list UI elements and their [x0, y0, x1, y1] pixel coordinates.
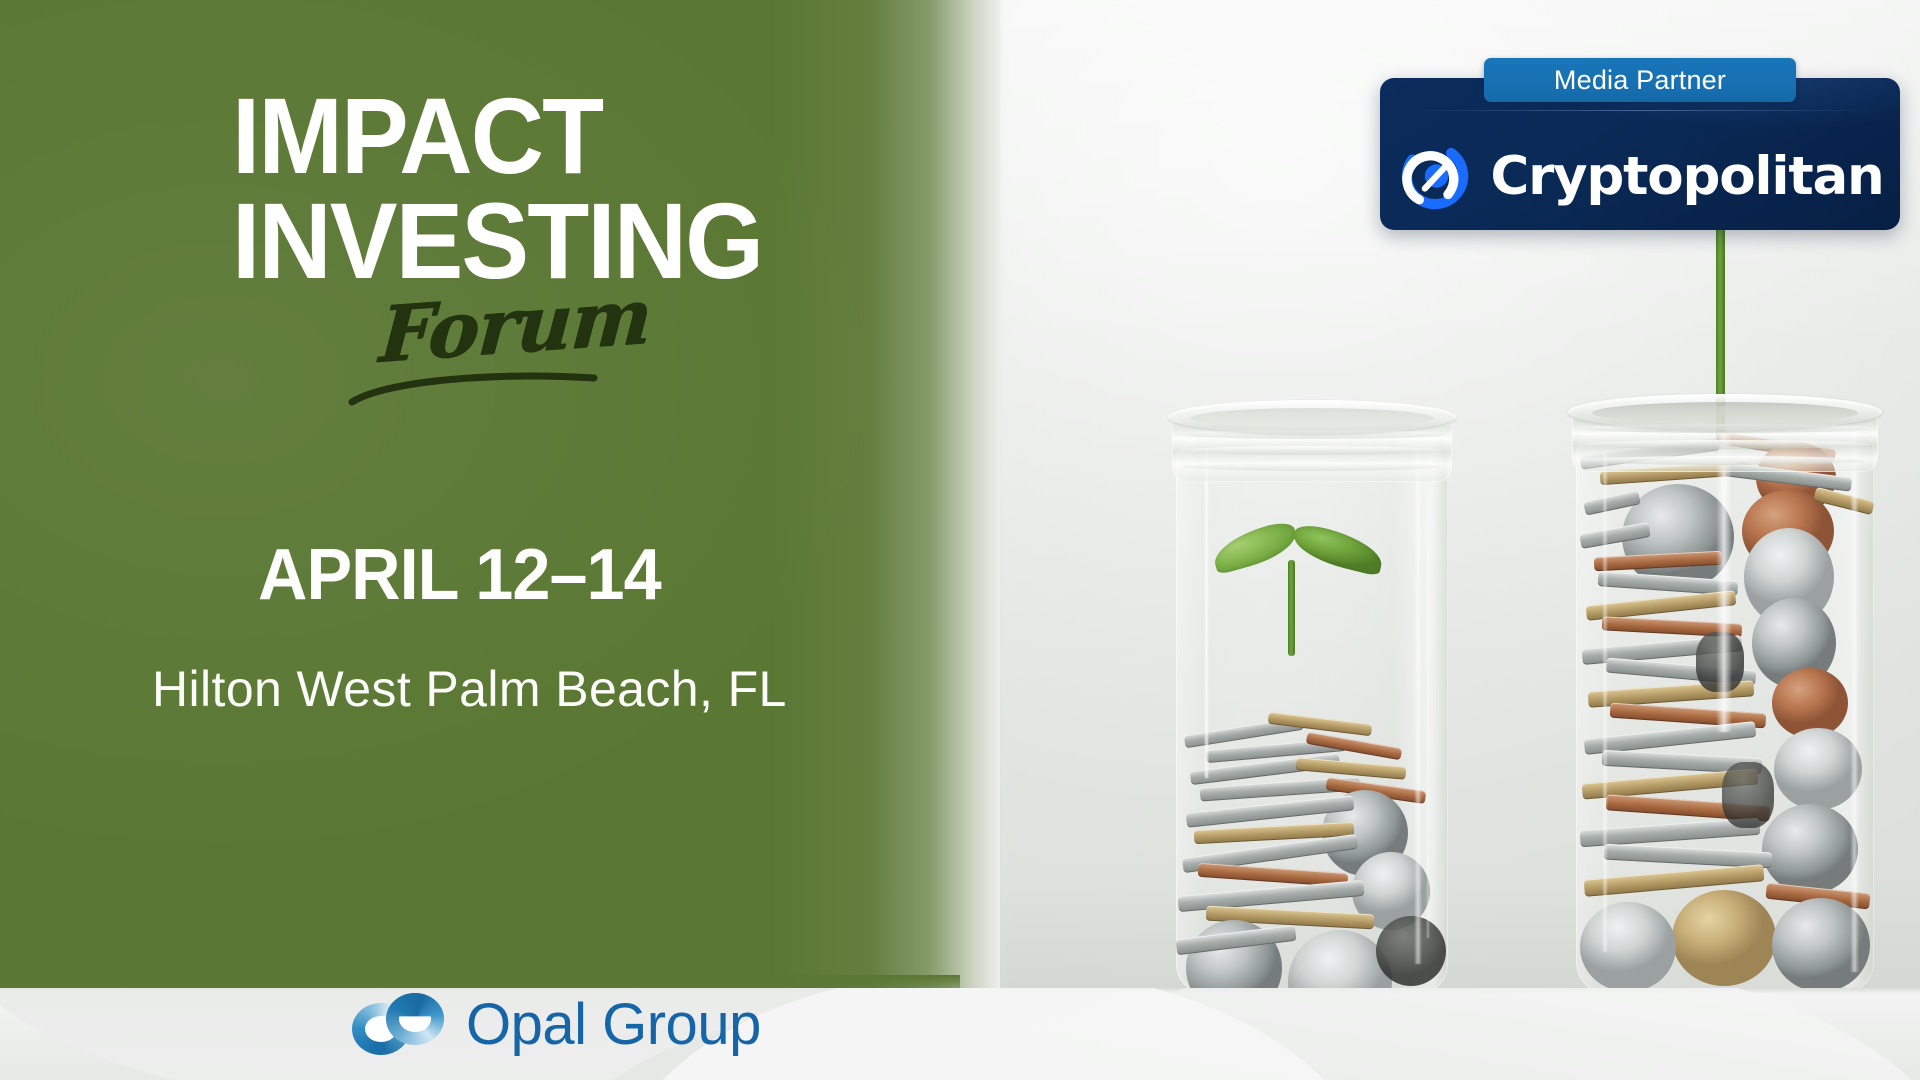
cryptopolitan-logo: Cryptopolitan — [1380, 122, 1900, 230]
script-underline-flourish — [348, 374, 600, 408]
event-date: APRIL 12–14 — [258, 534, 661, 616]
media-partner-tab: Media Partner — [1484, 58, 1796, 102]
cryptopolitan-wordmark: Cryptopolitan — [1490, 146, 1883, 207]
headline-block: IMPACT INVESTING — [232, 86, 992, 291]
media-partner-label: Media Partner — [1554, 65, 1726, 96]
footer-strip — [0, 988, 1920, 1080]
coin-jar-left — [1162, 386, 1462, 996]
script-word-forum: Forum — [377, 271, 654, 380]
coin-pile — [1176, 704, 1448, 994]
coin-jar-right — [1560, 378, 1890, 998]
sprout-stem — [1288, 560, 1295, 656]
event-venue: Hilton West Palm Beach, FL — [152, 660, 787, 718]
cryptopolitan-circle-mark-icon — [1396, 137, 1474, 215]
opal-interlocking-rings-icon — [352, 989, 448, 1061]
sprout-leaf-right — [1289, 521, 1386, 576]
opal-group-logo: Opal Group — [352, 988, 761, 1062]
script-word-block: Forum — [380, 290, 800, 420]
opal-group-wordmark: Opal Group — [466, 996, 761, 1054]
card-hairline — [1404, 110, 1876, 111]
jar-body — [1576, 432, 1874, 994]
promo-banner: IMPACT INVESTING Forum APRIL 12–14 Hilto… — [0, 0, 1920, 1080]
page-title-line-1: IMPACT — [232, 86, 946, 185]
jar-body — [1176, 438, 1448, 994]
